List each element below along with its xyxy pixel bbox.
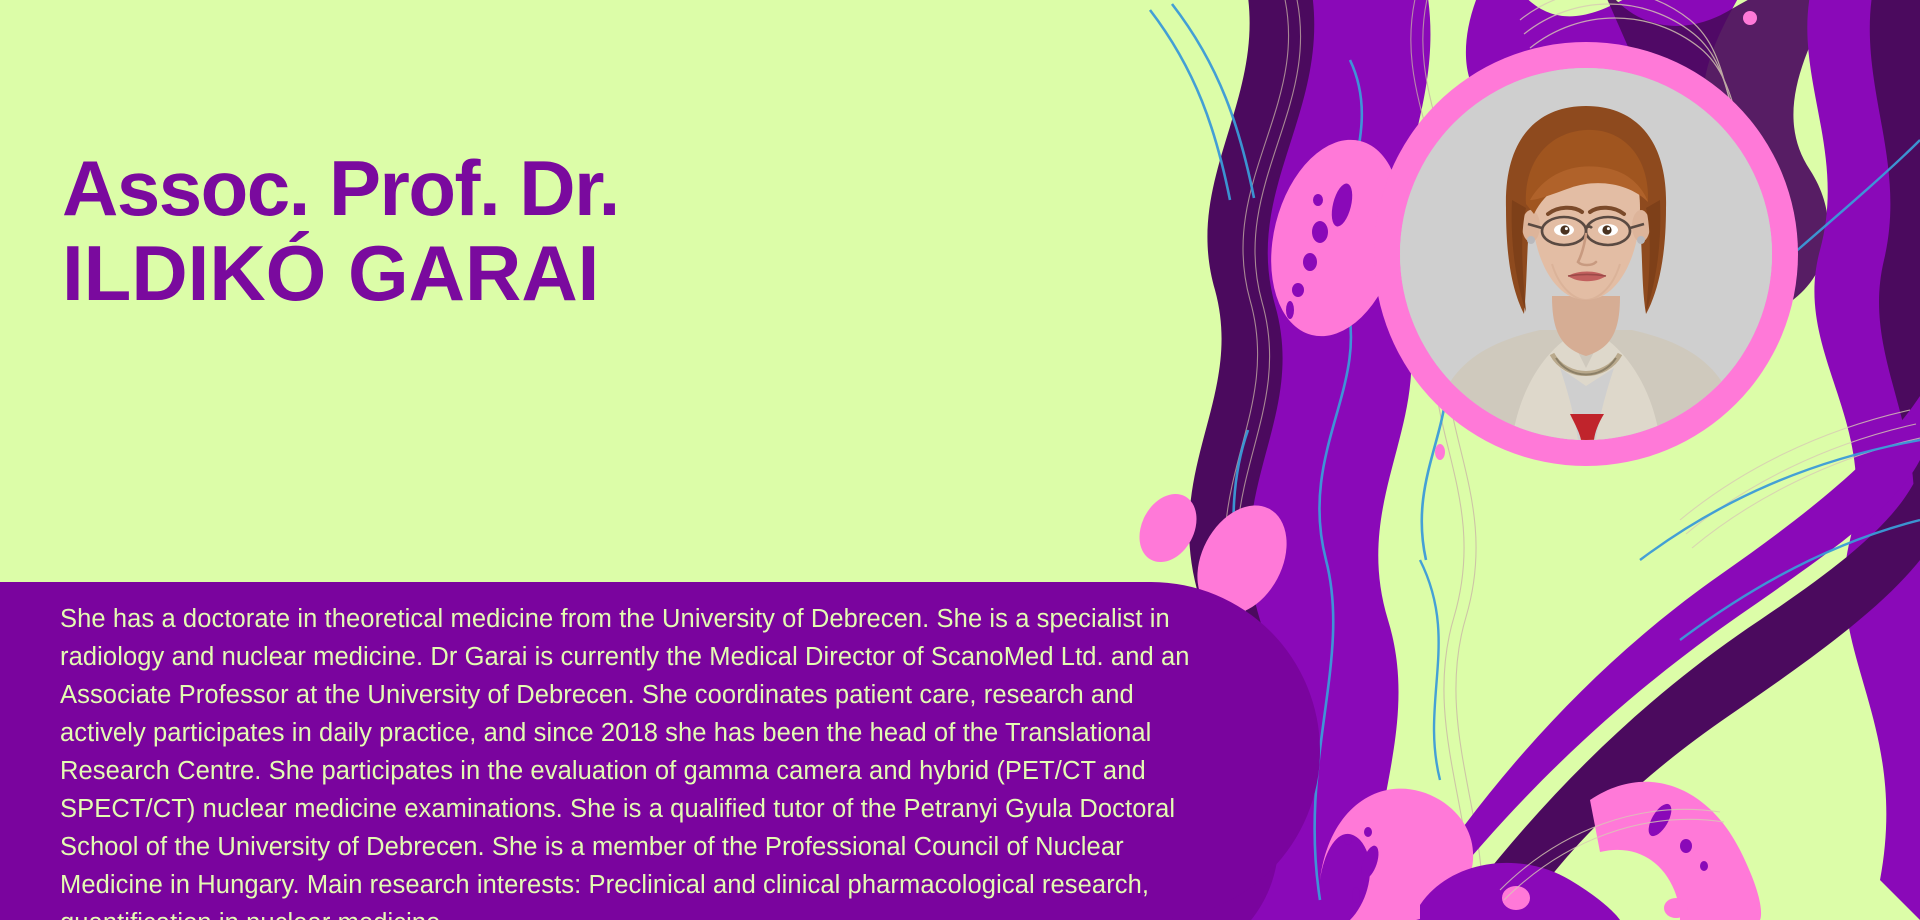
page-title: Assoc. Prof. Dr. ILDIKÓ GARAI <box>62 150 882 314</box>
title-line-credential: Assoc. Prof. Dr. <box>62 150 882 226</box>
biography-text: She has a doctorate in theoretical medic… <box>60 600 1215 920</box>
biography-panel: She has a doctorate in theoretical medic… <box>0 582 1320 920</box>
title-line-name: ILDIKÓ GARAI <box>62 234 882 314</box>
speaker-bio-card: Assoc. Prof. Dr. ILDIKÓ GARAI She has a … <box>0 0 1920 920</box>
speaker-portrait-ring <box>1374 42 1798 466</box>
speaker-portrait-photo <box>1400 68 1772 440</box>
